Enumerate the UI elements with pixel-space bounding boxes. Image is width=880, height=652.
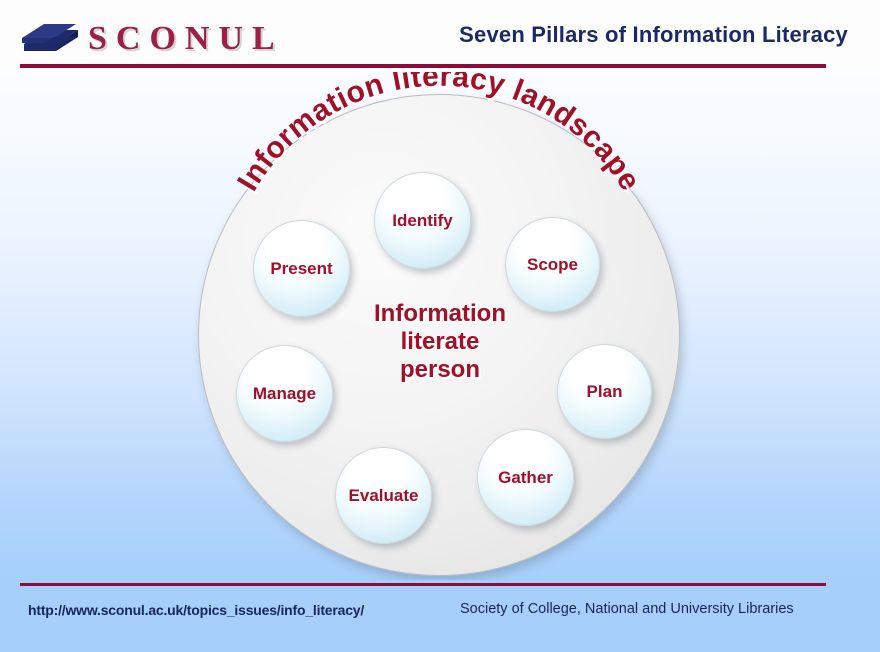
slide: SCONUL Seven Pillars of Information Lite…: [0, 0, 880, 652]
pillar-bubble-manage[interactable]: Manage: [236, 345, 333, 442]
pillar-bubble-scope[interactable]: Scope: [505, 217, 600, 312]
pillar-label: Gather: [498, 468, 553, 488]
diagram-canvas: Information literacy landscape Informati…: [0, 72, 880, 580]
pillar-bubble-identify[interactable]: Identify: [374, 172, 471, 269]
header-divider: [20, 64, 826, 68]
slide-header: SCONUL Seven Pillars of Information Lite…: [0, 0, 880, 72]
footer-divider: [20, 583, 826, 586]
pillar-label: Identify: [392, 211, 452, 231]
information-literacy-landscape-disc: [198, 94, 680, 576]
pillar-label: Scope: [527, 255, 578, 275]
pillar-bubble-gather[interactable]: Gather: [477, 429, 574, 526]
footer-organisation: Society of College, National and Univers…: [460, 601, 794, 617]
pillar-label: Plan: [587, 382, 623, 402]
footer-url-link[interactable]: http://www.sconul.ac.uk/topics_issues/in…: [28, 602, 364, 618]
pillar-label: Present: [270, 259, 332, 279]
page-title: Seven Pillars of Information Literacy: [459, 22, 848, 48]
pillar-bubble-plan[interactable]: Plan: [557, 344, 652, 439]
stacked-books-icon: [20, 18, 82, 58]
pillar-label: Manage: [253, 384, 316, 404]
sconul-wordmark: SCONUL: [88, 19, 284, 59]
pillar-label: Evaluate: [349, 486, 419, 506]
slide-footer: http://www.sconul.ac.uk/topics_issues/in…: [0, 580, 880, 652]
pillar-bubble-present[interactable]: Present: [253, 220, 350, 317]
pillar-bubble-evaluate[interactable]: Evaluate: [335, 447, 432, 544]
